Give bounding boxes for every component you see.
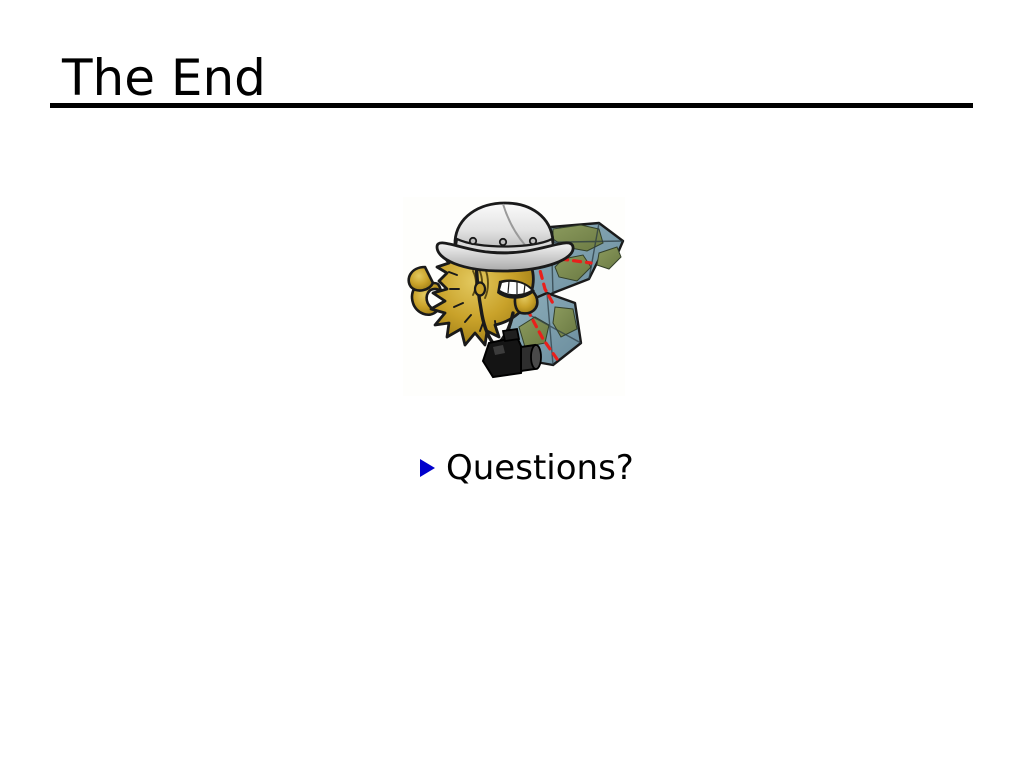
list-item: Questions? bbox=[420, 446, 634, 490]
slide-canvas: The End bbox=[0, 0, 1024, 768]
puffy-tourist-illustration bbox=[403, 197, 625, 396]
strap-ring bbox=[475, 283, 485, 296]
camera-body bbox=[483, 337, 525, 377]
puffy-tourist-svg bbox=[403, 197, 625, 396]
title-divider-rule bbox=[50, 103, 973, 108]
triangle-right-bullet-icon bbox=[420, 459, 435, 477]
page-title: The End bbox=[62, 50, 266, 106]
slide-title-block: The End bbox=[50, 50, 974, 112]
camera-top-plate bbox=[503, 329, 519, 341]
camera-lens-front bbox=[531, 345, 541, 369]
bullet-item-label: Questions? bbox=[446, 448, 634, 488]
